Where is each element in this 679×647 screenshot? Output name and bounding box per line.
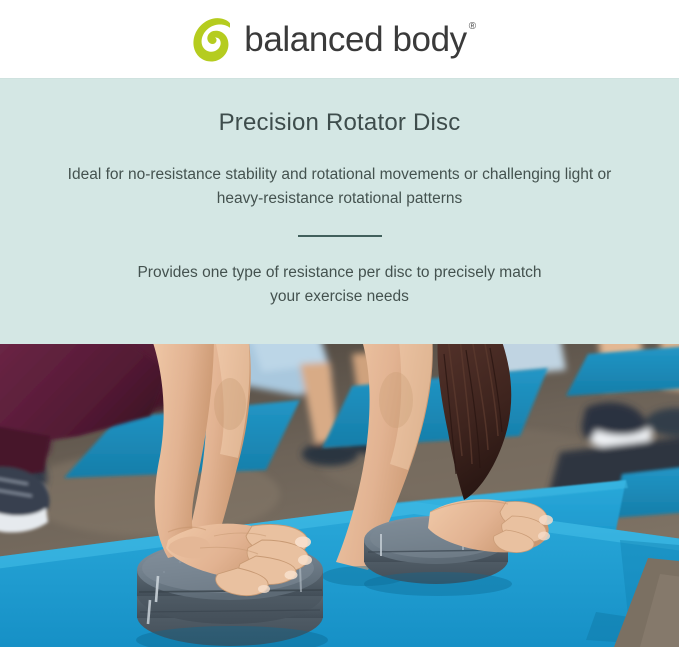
brand-logo-lockup[interactable]: balanced body® xyxy=(189,17,473,62)
registered-trademark-icon: ® xyxy=(469,21,476,32)
lead-description: Ideal for no-resistance stability and ro… xyxy=(57,163,623,210)
brand-name-text: balanced body xyxy=(244,20,467,59)
secondary-description: Provides one type of resistance per disc… xyxy=(125,261,555,308)
product-feature-page: balanced body® Precision Rotator Disc Id… xyxy=(0,0,679,647)
section-divider xyxy=(298,235,382,237)
balanced-body-spiral-logo-icon xyxy=(189,17,233,62)
brand-header: balanced body® xyxy=(0,0,679,78)
brand-wordmark: balanced body® xyxy=(244,22,473,57)
product-lifestyle-photo: Woman in plank position with hands on tw… xyxy=(0,344,679,647)
product-info-panel: Precision Rotator Disc Ideal for no-resi… xyxy=(0,78,679,344)
page-title: Precision Rotator Disc xyxy=(0,107,679,138)
